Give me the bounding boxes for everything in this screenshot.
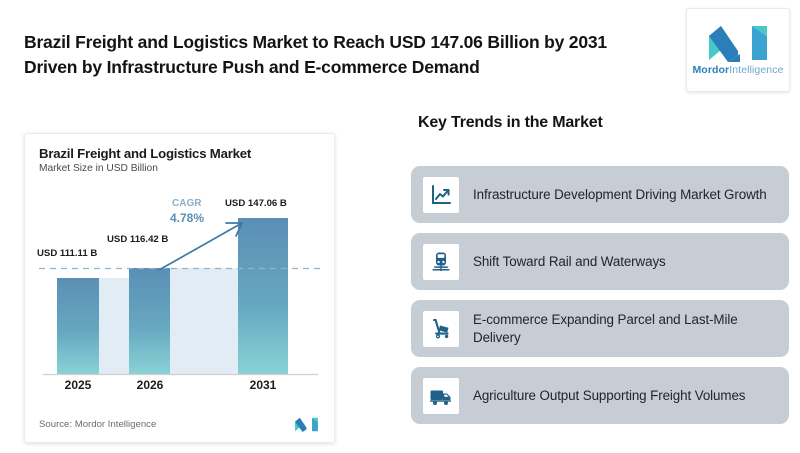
x-tick-2026: 2026 bbox=[127, 378, 173, 392]
trend-card-label: Shift Toward Rail and Waterways bbox=[473, 253, 666, 270]
bar-chart: USD 111.11 B USD 116.42 B USD 147.06 B C… bbox=[39, 190, 322, 394]
trend-card-label: Infrastructure Development Driving Marke… bbox=[473, 186, 767, 203]
x-tick-2025: 2025 bbox=[55, 378, 101, 392]
trend-card-ecommerce[interactable]: E-commerce Expanding Parcel and Last-Mil… bbox=[411, 300, 789, 357]
x-tick-2031: 2031 bbox=[240, 378, 286, 392]
mordor-m-logo-icon bbox=[707, 24, 769, 62]
growth-chart-icon bbox=[423, 177, 459, 213]
hand-truck-icon bbox=[423, 311, 459, 347]
cagr-label: CAGR bbox=[172, 198, 201, 209]
cagr-arrow-line bbox=[159, 223, 242, 270]
bar-label-2026: USD 116.42 B bbox=[107, 234, 168, 245]
chart-card: Brazil Freight and Logistics Market Mark… bbox=[24, 133, 335, 443]
bar-2025 bbox=[57, 278, 99, 374]
trends-heading: Key Trends in the Market bbox=[418, 114, 603, 132]
trend-card-label: E-commerce Expanding Parcel and Last-Mil… bbox=[473, 311, 777, 346]
trends-list: Infrastructure Development Driving Marke… bbox=[411, 166, 789, 434]
bar-2031 bbox=[238, 218, 288, 374]
bar-label-2031: USD 147.06 B bbox=[225, 198, 287, 209]
chart-source-row: Source: Mordor Intelligence bbox=[39, 417, 320, 432]
chart-filler-column bbox=[170, 268, 238, 374]
train-icon bbox=[423, 244, 459, 280]
chart-source-text: Source: Mordor Intelligence bbox=[39, 419, 156, 430]
brand-logo: MordorIntelligence bbox=[686, 8, 790, 92]
logo-wordmark: MordorIntelligence bbox=[692, 64, 783, 76]
infographic-page: Brazil Freight and Logistics Market to R… bbox=[0, 0, 800, 453]
chart-subtitle: Market Size in USD Billion bbox=[39, 163, 320, 174]
chart-title: Brazil Freight and Logistics Market bbox=[39, 146, 320, 161]
bar-2026 bbox=[129, 268, 170, 374]
trend-card-infrastructure[interactable]: Infrastructure Development Driving Marke… bbox=[411, 166, 789, 223]
delivery-truck-icon bbox=[423, 378, 459, 414]
trend-card-label: Agriculture Output Supporting Freight Vo… bbox=[473, 387, 745, 404]
trend-card-rail-waterways[interactable]: Shift Toward Rail and Waterways bbox=[411, 233, 789, 290]
mordor-m-logo-small-icon bbox=[293, 417, 320, 432]
bar-label-2025: USD 111.11 B bbox=[37, 248, 97, 259]
logo-brand: Mordor bbox=[692, 64, 729, 76]
cagr-value: 4.78% bbox=[170, 211, 204, 225]
chart-filler-column bbox=[99, 278, 129, 374]
logo-product: Intelligence bbox=[729, 64, 783, 76]
trend-card-agriculture[interactable]: Agriculture Output Supporting Freight Vo… bbox=[411, 367, 789, 424]
page-headline: Brazil Freight and Logistics Market to R… bbox=[24, 30, 664, 80]
